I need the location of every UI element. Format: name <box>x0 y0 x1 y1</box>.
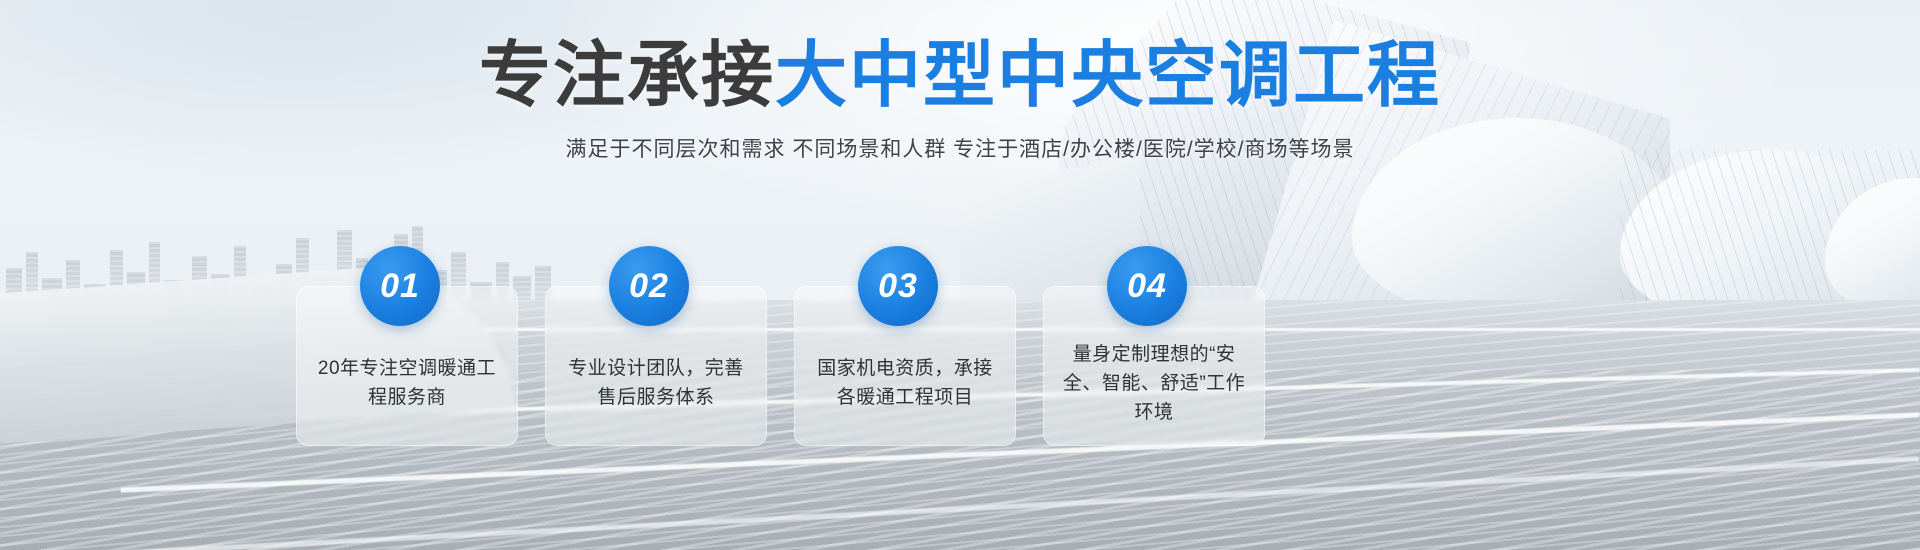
feature-card[interactable]: 03 国家机电资质，承接各暖通工程项目 <box>794 286 1016 446</box>
headline-blue-text: 大中型中央空调工程 <box>775 36 1441 116</box>
feature-card-list: 01 20年专注空调暖通工程服务商 02 专业设计团队，完善售后服务体系 03 … <box>296 246 1296 446</box>
card-number-badge: 02 <box>609 246 689 326</box>
page-subtitle: 满足于不同层次和需求 不同场景和人群 专注于酒店/办公楼/医院/学校/商场等场景 <box>0 133 1920 163</box>
card-description: 专业设计团队，完善售后服务体系 <box>559 354 753 412</box>
feature-card[interactable]: 01 20年专注空调暖通工程服务商 <box>296 286 518 446</box>
hero-banner: 专注承接大中型中央空调工程 满足于不同层次和需求 不同场景和人群 专注于酒店/办… <box>0 0 1920 550</box>
feature-card[interactable]: 02 专业设计团队，完善售后服务体系 <box>545 286 767 446</box>
card-number-badge: 04 <box>1107 246 1187 326</box>
card-description: 量身定制理想的“安全、智能、舒适”工作环境 <box>1057 340 1251 427</box>
card-number-badge: 03 <box>858 246 938 326</box>
headline-dark-text: 专注承接 <box>479 36 775 116</box>
card-number-badge: 01 <box>360 246 440 326</box>
page-title: 专注承接大中型中央空调工程 <box>0 40 1920 112</box>
card-description: 20年专注空调暖通工程服务商 <box>310 354 504 412</box>
card-description: 国家机电资质，承接各暖通工程项目 <box>808 354 1002 412</box>
feature-card[interactable]: 04 量身定制理想的“安全、智能、舒适”工作环境 <box>1043 286 1265 446</box>
